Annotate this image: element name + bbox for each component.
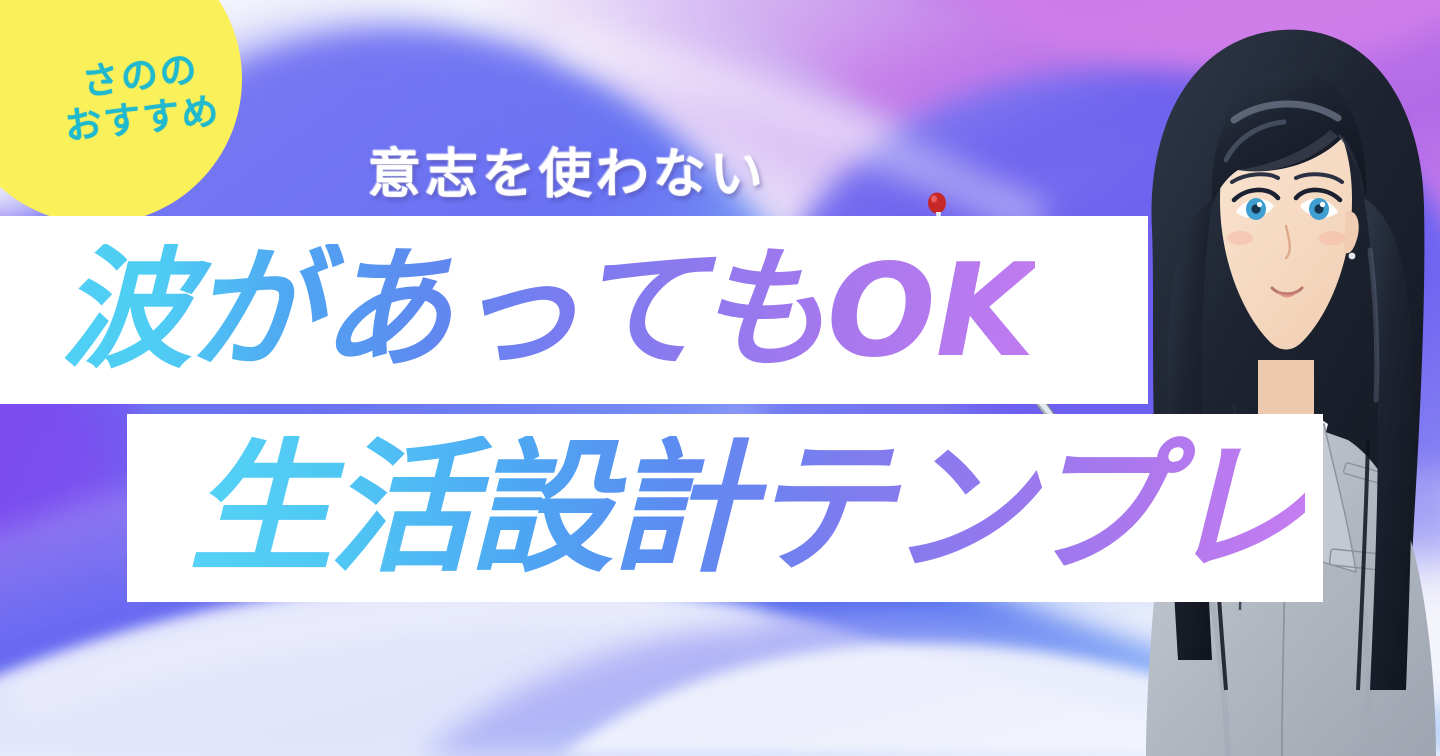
thumbnail-canvas: さのの おすすめ 意志を使わない 波があってもOK 生活設計テンプレ	[0, 0, 1440, 756]
headline-line-1-jp: 波があっても	[60, 233, 827, 387]
kicker-text: 意志を使わない	[368, 132, 767, 208]
headline-band-2: 生活設計テンプレ	[127, 414, 1323, 602]
headline-line-1: 波があってもOK	[60, 244, 1035, 376]
headline-line-2: 生活設計テンプレ	[189, 436, 1305, 580]
headline-line-1-ok: OK	[827, 237, 1035, 386]
presenter-illustration	[1116, 0, 1440, 756]
headline-band-1: 波があってもOK	[0, 216, 1148, 404]
